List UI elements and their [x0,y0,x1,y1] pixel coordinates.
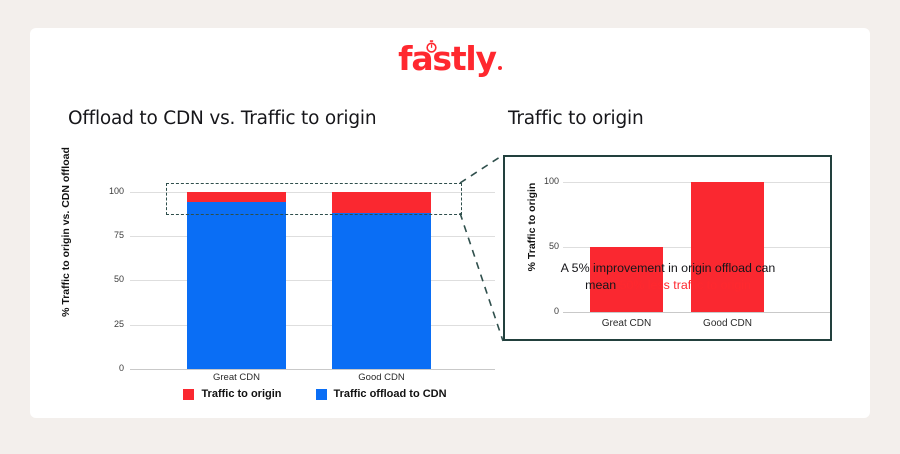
caption-line-1: A 5% improvement in origin offload can [503,260,833,277]
legend-item-traffic-offload-to-cdn: Traffic offload to CDN [316,388,447,400]
legend-item-traffic-to-origin: Traffic to origin [183,388,281,400]
content-card: fastly Offload to CDN vs. Traffic to ori… [30,28,870,418]
right-ytick-0: 0 [533,306,559,316]
legend-swatch-blue [316,389,327,400]
right-chart-panel: % Traffic to origin 100 50 0 Great CDN G… [503,155,832,341]
page-background: fastly Offload to CDN vs. Traffic to ori… [0,0,900,454]
right-axis-line-0 [563,312,830,313]
right-xtick-great-cdn: Great CDN [590,318,663,329]
right-xtick-good-cdn: Good CDN [691,318,764,329]
panel-caption: A 5% improvement in origin offload can m… [503,260,833,294]
right-ytick-100: 100 [533,176,559,186]
right-ytick-50: 50 [533,241,559,251]
connector-line-top [460,155,503,183]
caption-highlight: 50% less traffic to origin [620,278,751,292]
legend-swatch-red [183,389,194,400]
left-chart-legend: Traffic to origin Traffic offload to CDN [130,388,500,400]
connector-line-bottom [460,213,503,341]
legend-label-traffic-offload-to-cdn: Traffic offload to CDN [334,388,447,400]
caption-prefix: mean [585,278,619,292]
caption-line-2: mean 50% less traffic to origin [503,277,833,294]
legend-label-traffic-to-origin: Traffic to origin [201,388,281,400]
